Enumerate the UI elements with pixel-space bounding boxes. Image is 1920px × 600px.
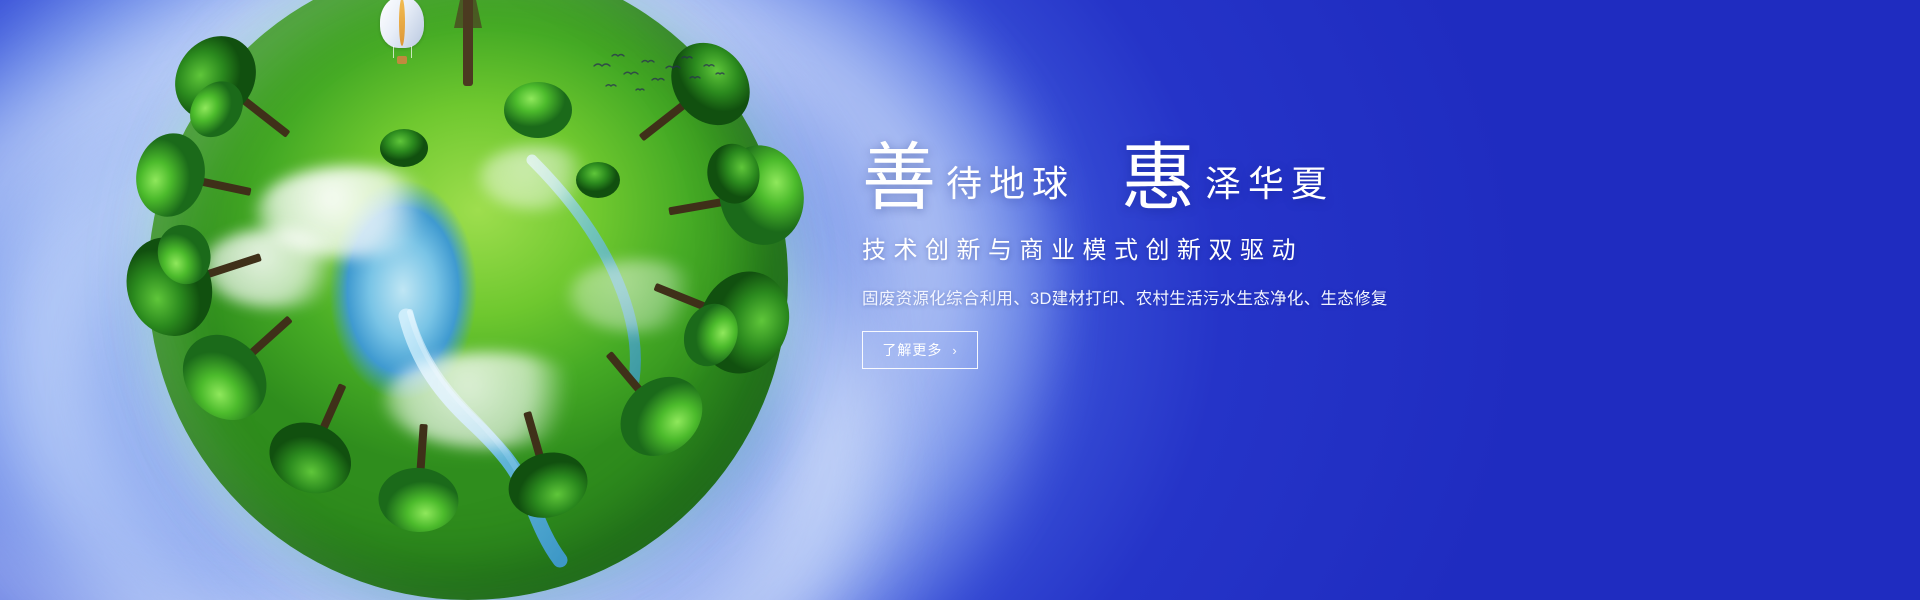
banner-description: 固废资源化综合利用、3D建材打印、农村生活污水生态净化、生态修复	[862, 285, 1482, 309]
balloon-stripe	[399, 0, 405, 46]
shrub	[576, 162, 620, 198]
tree	[376, 421, 463, 534]
headline-part2-large: 惠	[1121, 142, 1195, 216]
hero-banner: 善 待地球 惠 泽华夏 技术创新与商业模式创新双驱动 固废资源化综合利用、3D建…	[0, 0, 1920, 600]
tree	[634, 238, 804, 391]
balloon-rope	[411, 46, 412, 58]
chevron-right-icon: ›	[952, 344, 957, 357]
page-title: 善 待地球 惠 泽华夏	[862, 138, 1482, 212]
shrub	[504, 82, 572, 138]
tree	[659, 133, 811, 261]
hot-air-balloon-icon	[380, 0, 428, 70]
headline-part2-small: 泽华夏	[1195, 166, 1334, 202]
banner-subtitle: 技术创新与商业模式创新双驱动	[862, 230, 1482, 265]
headline-part1-small: 待地球	[936, 166, 1075, 202]
balloon-rope	[393, 46, 394, 58]
tree	[489, 401, 596, 527]
tree-ring	[68, 0, 868, 600]
tree	[129, 127, 260, 233]
learn-more-label: 了解更多	[882, 340, 942, 360]
balloon-basket	[397, 56, 407, 64]
headline-part1-large: 善	[862, 142, 936, 216]
bird-flock-icon	[590, 48, 730, 98]
tree	[112, 204, 276, 347]
shrub	[380, 129, 428, 167]
learn-more-button[interactable]: 了解更多 ›	[862, 331, 978, 369]
tree	[258, 368, 381, 506]
banner-content: 善 待地球 惠 泽华夏 技术创新与商业模式创新双驱动 固废资源化综合利用、3D建…	[862, 138, 1482, 369]
